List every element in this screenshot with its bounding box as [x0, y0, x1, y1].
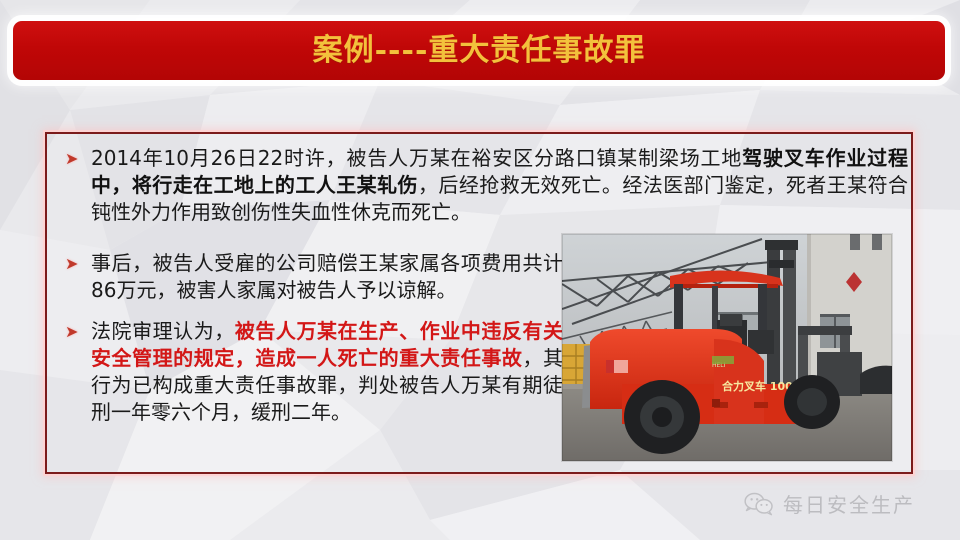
arrow-bullet-icon: ➤	[63, 250, 91, 277]
forklift-photo: 合力叉车 100 HELI	[562, 234, 892, 461]
footer-account-name: 每日安全生产	[783, 489, 915, 518]
paragraph-text-2: 事后，被告人受雇的公司赔偿王某家属各项费用共计86万元，被害人家属对被告人予以谅…	[91, 250, 563, 304]
list-item: ➤ 事后，被告人受雇的公司赔偿王某家属各项费用共计86万元，被害人家属对被告人予…	[63, 250, 563, 304]
footer-watermark: 每日安全生产	[744, 489, 915, 518]
run-normal: 法院审理认为，	[91, 319, 235, 343]
wechat-icon	[744, 492, 774, 516]
forklift-photo-graphic: 合力叉车 100 HELI	[562, 234, 892, 461]
paragraph-text-1: 2014年10月26日22时许，被告人万某在裕安区分路口镇某制梁场工地驾驶叉车作…	[91, 145, 908, 226]
run-normal: 事后，被告人受雇的公司赔偿王某家属各项费用共计86万元，被害人家属对被告人予以谅…	[91, 251, 563, 302]
arrow-bullet-icon: ➤	[63, 145, 91, 172]
svg-text:合力叉车 100: 合力叉车 100	[722, 379, 793, 393]
run-normal: 2014年10月26日22时许，被告人万某在裕安区分路口镇某制梁场工地	[91, 146, 742, 170]
list-item: ➤ 2014年10月26日22时许，被告人万某在裕安区分路口镇某制梁场工地驾驶叉…	[63, 145, 908, 226]
body-text-column: ➤ 2014年10月26日22时许，被告人万某在裕安区分路口镇某制梁场工地驾驶叉…	[63, 145, 563, 438]
slide-canvas: 案例----重大责任事故罪 ➤ 2014年10月26日22时许，被告人万某在裕安…	[0, 0, 960, 540]
arrow-bullet-icon: ➤	[63, 318, 91, 345]
title-banner: 案例----重大责任事故罪	[13, 21, 945, 80]
paragraph-text-3: 法院审理认为，被告人万某在生产、作业中违反有关安全管理的规定，造成一人死亡的重大…	[91, 318, 563, 426]
list-item: ➤ 法院审理认为，被告人万某在生产、作业中违反有关安全管理的规定，造成一人死亡的…	[63, 318, 563, 426]
page-title: 案例----重大责任事故罪	[313, 36, 646, 66]
